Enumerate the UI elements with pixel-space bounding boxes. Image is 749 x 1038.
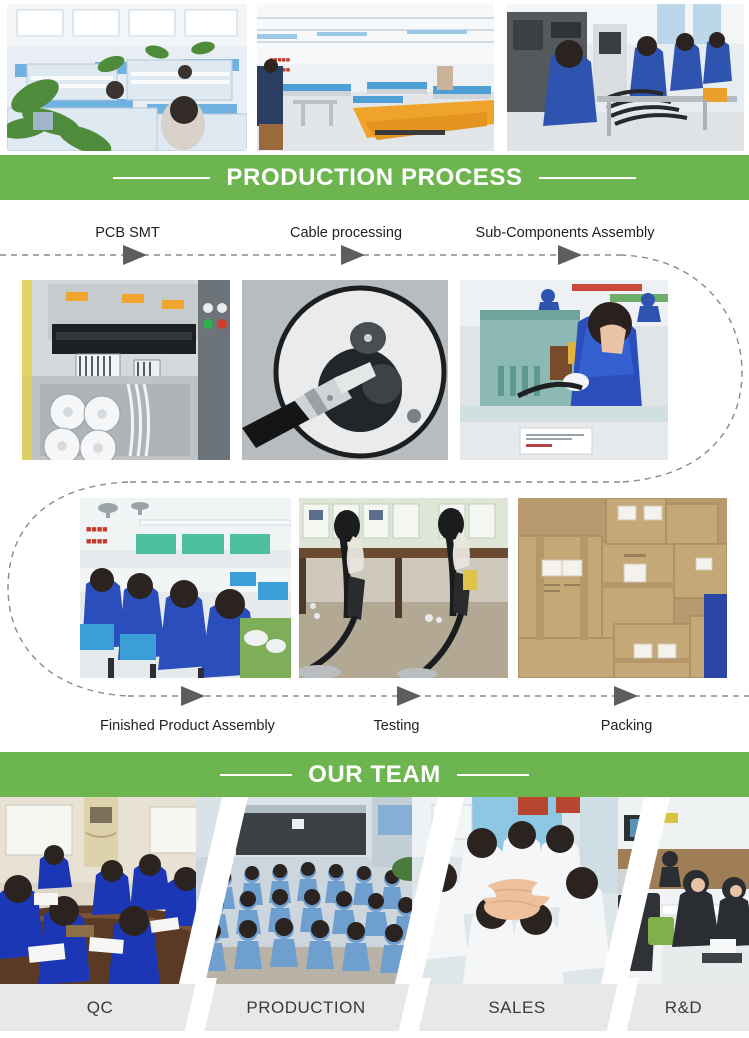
photo-final-assembly-line: ■■■■■■■■: [80, 498, 291, 678]
svg-text:■■■■: ■■■■: [86, 536, 108, 546]
photo-packing-boxes: [518, 498, 727, 678]
step-label-pcb-smt: PCB SMT: [0, 225, 255, 241]
step-label-packing: Packing: [525, 718, 728, 734]
team-label-qc: QC: [0, 984, 200, 1031]
photo-testing-station: [299, 498, 508, 678]
our-team-section: QC PRODUCTION SALES R&D: [0, 797, 749, 1031]
banner-team-title: OUR TEAM: [308, 761, 441, 789]
team-label-production: PRODUCTION: [196, 984, 416, 1031]
photo-office-cubicles: [7, 4, 247, 151]
step-label-cable-processing: Cable processing: [230, 225, 462, 241]
photo-factory-floor: ■■■■■■■■■■: [257, 4, 494, 151]
banner-production-title: PRODUCTION PROCESS: [226, 164, 522, 192]
team-photo-strip: [0, 797, 749, 984]
step-label-sub-components-assembly: Sub-Components Assembly: [450, 225, 680, 241]
team-label-band: QC PRODUCTION SALES R&D: [0, 984, 749, 1031]
banner-rule-left: [220, 774, 292, 776]
step-label-finished-product-assembly: Finished Product Assembly: [60, 718, 315, 734]
production-process-section: PCB SMT Cable processing Sub-Components …: [0, 200, 749, 752]
product-detail-page: ■■■■■■■■■■: [0, 0, 749, 1031]
banner-production-process: PRODUCTION PROCESS: [0, 155, 749, 200]
photo-cable-processing-closeup: [242, 280, 448, 460]
banner-rule-right: [457, 774, 529, 776]
team-label-rd: R&D: [618, 984, 749, 1031]
banner-rule-left: [113, 177, 210, 179]
photo-qc-meeting: [0, 797, 210, 984]
photo-sub-component-assembly-worker: [460, 280, 668, 460]
step-label-testing: Testing: [300, 718, 493, 734]
photo-assembly-line-harness: [507, 4, 744, 151]
team-label-sales: SALES: [410, 984, 624, 1031]
svg-text:■■■■: ■■■■: [86, 524, 108, 534]
top-image-row: ■■■■■■■■■■: [0, 0, 749, 155]
photo-smt-pick-and-place-machine: [22, 280, 230, 460]
banner-our-team: OUR TEAM: [0, 752, 749, 797]
banner-rule-right: [539, 177, 636, 179]
